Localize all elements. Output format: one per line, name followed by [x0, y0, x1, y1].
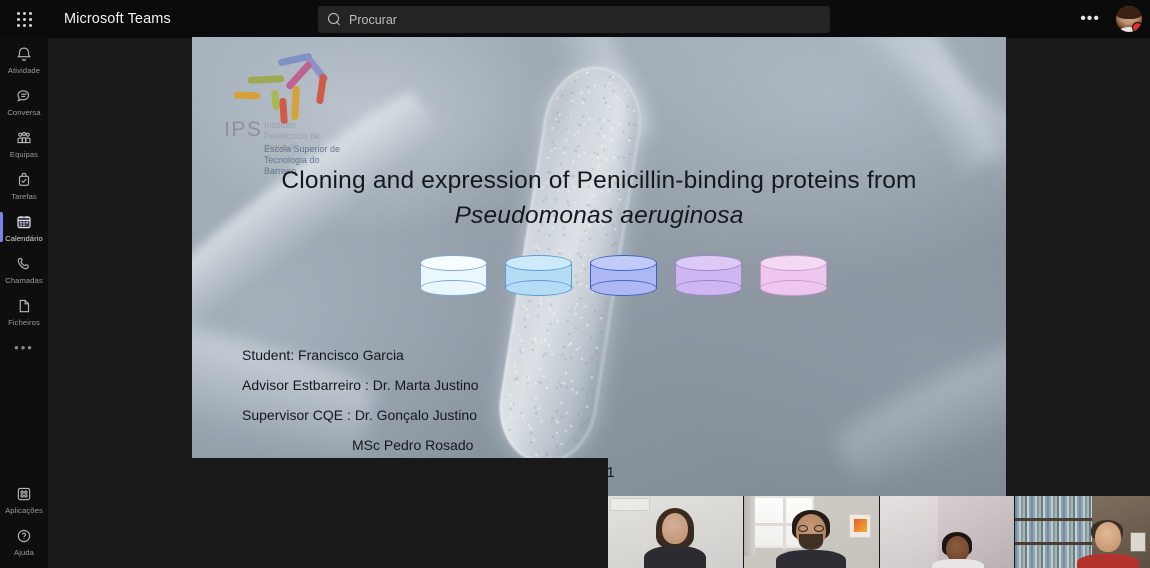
sidebar-item-label: Calendário [5, 234, 43, 243]
sidebar-item-label: Aplicações [5, 506, 43, 515]
pbp-cylinder-5 [760, 255, 827, 293]
sidebar-item-label: Conversa [7, 108, 40, 117]
sidebar-item-label: Ficheiros [8, 318, 40, 327]
settings-more-button[interactable]: ••• [1074, 14, 1106, 24]
pbp-cylinder-2 [505, 255, 572, 293]
app-rail: Atividade Conversa Equipas [0, 38, 48, 568]
title-bar-right: ••• [1074, 0, 1142, 38]
teams-window: Microsoft Teams Procurar ••• Atividade [0, 0, 1150, 568]
sidebar-item-label: Atividade [8, 66, 40, 75]
ips-logo-mark [230, 52, 340, 124]
calendar-icon [15, 213, 33, 231]
status-badge [1132, 22, 1142, 32]
credit-line: Student: Francisco Garcia [242, 340, 479, 370]
help-icon [15, 527, 33, 545]
sidebar-item-label: Equipas [10, 150, 38, 159]
pbp-cylinder-4 [675, 255, 742, 293]
credit-line: MSc Pedro Rosado [242, 430, 473, 460]
app-rail-bottom: Aplicações Ajuda [0, 478, 48, 562]
sidebar-item-conversa[interactable]: Conversa [0, 80, 48, 122]
chat-icon [15, 87, 33, 105]
slide-title-line2: Pseudomonas aeruginosa [192, 202, 1006, 230]
sidebar-item-aplicacoes[interactable]: Aplicações [0, 478, 48, 520]
sidebar-item-equipas[interactable]: Equipas [0, 122, 48, 164]
sidebar-item-label: Ajuda [14, 548, 34, 557]
bell-icon [15, 45, 33, 63]
sidebar-item-atividade[interactable]: Atividade [0, 38, 48, 80]
sidebar-item-chamadas[interactable]: Chamadas [0, 248, 48, 290]
apps-icon [15, 485, 33, 503]
credit-line: Supervisor CQE : Dr. Gonçalo Justino [242, 400, 479, 430]
pbp-cylinder-1 [420, 255, 487, 293]
participant-tile-4[interactable] [1015, 496, 1150, 568]
pbp-cylinder-3 [590, 255, 657, 293]
search-bar[interactable]: Procurar [318, 6, 830, 33]
tasks-icon [15, 171, 33, 189]
sidebar-item-ficheiros[interactable]: Ficheiros [0, 290, 48, 332]
file-icon [15, 297, 33, 315]
participant-tile-1[interactable] [608, 496, 743, 568]
sidebar-item-tarefas[interactable]: Tarefas [0, 164, 48, 206]
participant-tile-2[interactable] [744, 496, 879, 568]
search-placeholder: Procurar [349, 13, 397, 27]
slide-title-line1: Cloning and expression of Penicillin-bin… [192, 167, 1006, 195]
avatar[interactable] [1116, 6, 1142, 32]
title-bar: Microsoft Teams Procurar ••• [0, 0, 1150, 38]
ips-acronym: IPS [224, 118, 262, 142]
slide-credits: Student: Francisco Garcia Advisor Estbar… [242, 340, 479, 460]
shared-presentation-slide[interactable]: IPS Instituto Politécnico de Setúbal Esc… [192, 37, 1006, 496]
search-icon [328, 13, 341, 26]
participant-tile-3[interactable] [880, 496, 1015, 568]
phone-icon [15, 255, 33, 273]
waffle-grid-icon [17, 12, 32, 27]
sidebar-item-label: Chamadas [5, 276, 43, 285]
sidebar-more-button[interactable]: ••• [0, 332, 48, 362]
avatar-hair [1116, 6, 1142, 19]
app-title: Microsoft Teams [64, 11, 171, 27]
pbp-cylinder-group [420, 255, 840, 305]
credit-line: Advisor Estbarreiro : Dr. Marta Justino [242, 370, 479, 400]
teams-icon [15, 129, 33, 147]
sidebar-item-label: Tarefas [11, 192, 37, 201]
sidebar-item-ajuda[interactable]: Ajuda [0, 520, 48, 562]
waffle-menu-button[interactable] [0, 0, 48, 38]
sidebar-item-calendario[interactable]: Calendário [0, 206, 48, 248]
ips-logo: IPS Instituto Politécnico de Setúbal Esc… [216, 52, 346, 172]
stage-filler [48, 458, 608, 530]
participant-video-strip [608, 496, 1150, 568]
